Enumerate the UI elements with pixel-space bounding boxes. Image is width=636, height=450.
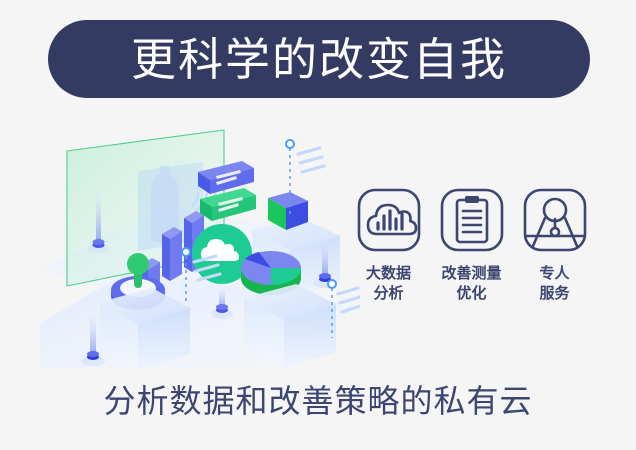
poster-root: 更科学的改变自我 bbox=[0, 0, 636, 450]
cloud-bar-chart-icon bbox=[357, 188, 421, 252]
feature-list: 大数据 分析 改善测量 优化 bbox=[352, 188, 592, 305]
clipboard-icon bbox=[440, 188, 504, 252]
feature-label: 大数据 分析 bbox=[350, 264, 428, 305]
service-person-icon bbox=[523, 188, 587, 252]
feature-item-dedicated-service: 专人 服务 bbox=[518, 188, 591, 305]
isometric-data-platform-illustration bbox=[40, 118, 360, 368]
page-title: 更科学的改变自我 bbox=[131, 37, 507, 82]
tagline: 分析数据和改善策略的私有云 bbox=[0, 382, 636, 420]
feature-item-big-data-analysis: 大数据 分析 bbox=[352, 188, 425, 305]
feature-item-measurement-optimization: 改善测量 优化 bbox=[435, 188, 508, 305]
feature-label: 专人 服务 bbox=[516, 264, 594, 305]
title-banner: 更科学的改变自我 bbox=[48, 20, 590, 98]
feature-label: 改善测量 优化 bbox=[433, 264, 511, 305]
